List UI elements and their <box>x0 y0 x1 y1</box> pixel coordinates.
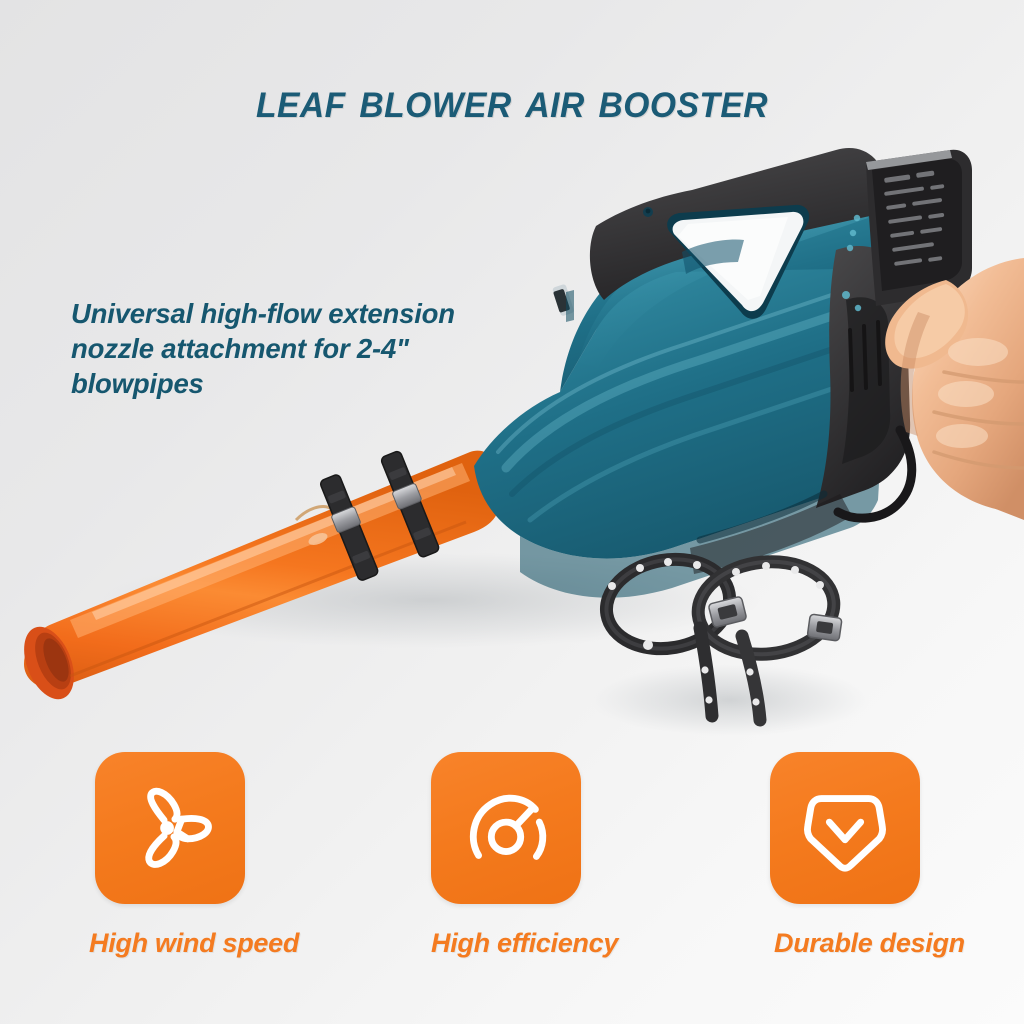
diamond-shield-check-icon <box>796 779 894 877</box>
feature-label: High efficiency <box>431 928 581 959</box>
strap-shadow <box>590 664 870 736</box>
feature-item-durable-design[interactable]: Durable design <box>770 752 920 959</box>
feature-icon-tile <box>95 752 245 904</box>
feature-icon-tile <box>431 752 581 904</box>
fan-blade-icon <box>121 779 219 877</box>
feature-icon-tile <box>770 752 920 904</box>
speedometer-gauge-icon <box>457 779 555 877</box>
feature-label: Durable design <box>774 928 920 959</box>
feature-item-high-wind-speed[interactable]: High wind speed <box>95 752 245 959</box>
teal-blower-body <box>474 148 910 598</box>
strap-buckle <box>807 614 842 641</box>
battery-pack <box>866 150 972 306</box>
feature-label: High wind speed <box>89 928 245 959</box>
feature-item-high-efficiency[interactable]: High efficiency <box>431 752 581 959</box>
product-promo-banner: Leaf Blower Air Booster Universal high-f… <box>0 0 1024 1024</box>
